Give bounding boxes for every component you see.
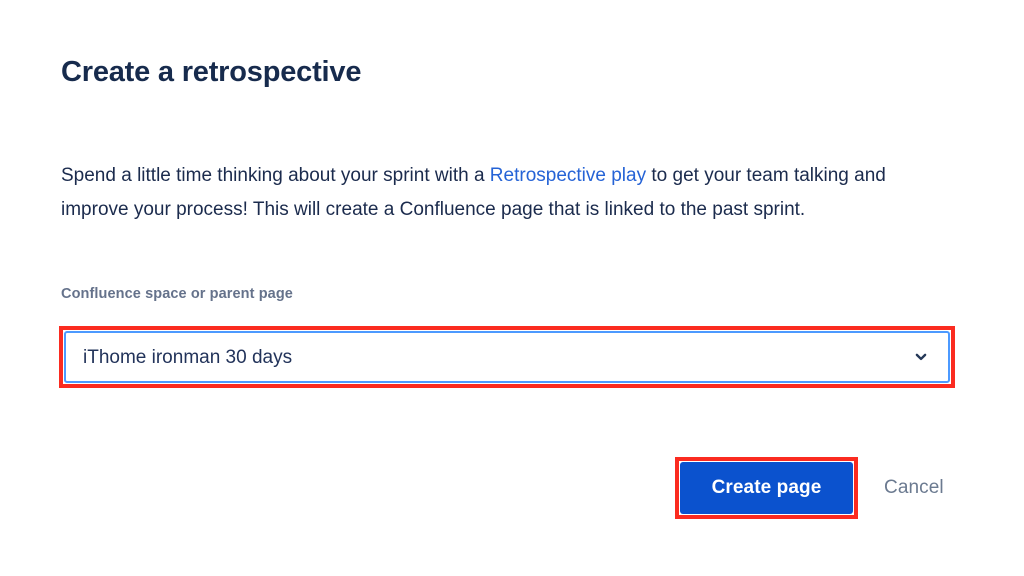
retrospective-play-link[interactable]: Retrospective play <box>490 165 646 186</box>
confluence-space-select[interactable]: iThome ironman 30 days <box>64 331 950 383</box>
confluence-space-selected-value: iThome ironman 30 days <box>83 348 912 367</box>
cancel-button[interactable]: Cancel <box>878 462 950 514</box>
description-text-before-link: Spend a little time thinking about your … <box>61 165 490 186</box>
page-title: Create a retrospective <box>61 54 361 90</box>
chevron-down-icon <box>912 348 930 366</box>
dialog-description: Spend a little time thinking about your … <box>61 159 951 227</box>
create-page-button[interactable]: Create page <box>680 462 853 514</box>
confluence-space-label: Confluence space or parent page <box>61 286 293 302</box>
create-retrospective-dialog: Create a retrospective Spend a little ti… <box>0 0 1024 576</box>
